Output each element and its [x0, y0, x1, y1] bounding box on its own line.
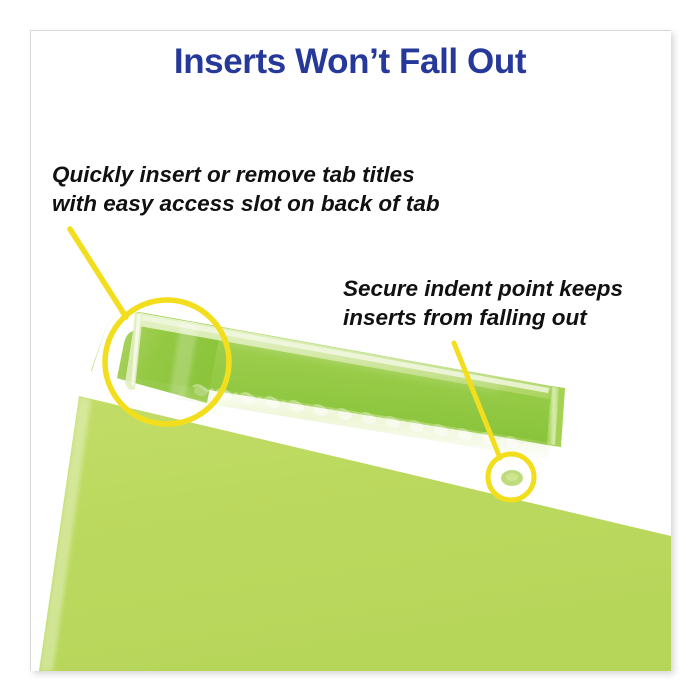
callout-left-line-1: Quickly insert or remove tab titles: [52, 160, 440, 189]
divider-sheet: [39, 396, 671, 671]
callout-label-insert-remove-tab-titles: Quickly insert or remove tab titles with…: [52, 160, 440, 218]
page-title: Inserts Won’t Fall Out: [0, 42, 700, 82]
callout-left-line-2: with easy access slot on back of tab: [52, 189, 440, 218]
product-feature-figure: Inserts Won’t Fall Out Quickly insert or…: [0, 0, 700, 700]
divider-tab-photo: [31, 31, 671, 671]
callout-right-line-1: Secure indent point keeps: [343, 274, 623, 303]
indent-point: [501, 470, 523, 486]
callout-label-secure-indent-point: Secure indent point keeps inserts from f…: [343, 274, 623, 332]
callout-right-line-2: inserts from falling out: [343, 303, 623, 332]
product-photo-canvas: [30, 30, 671, 671]
tab-slot-notch: [91, 312, 143, 391]
